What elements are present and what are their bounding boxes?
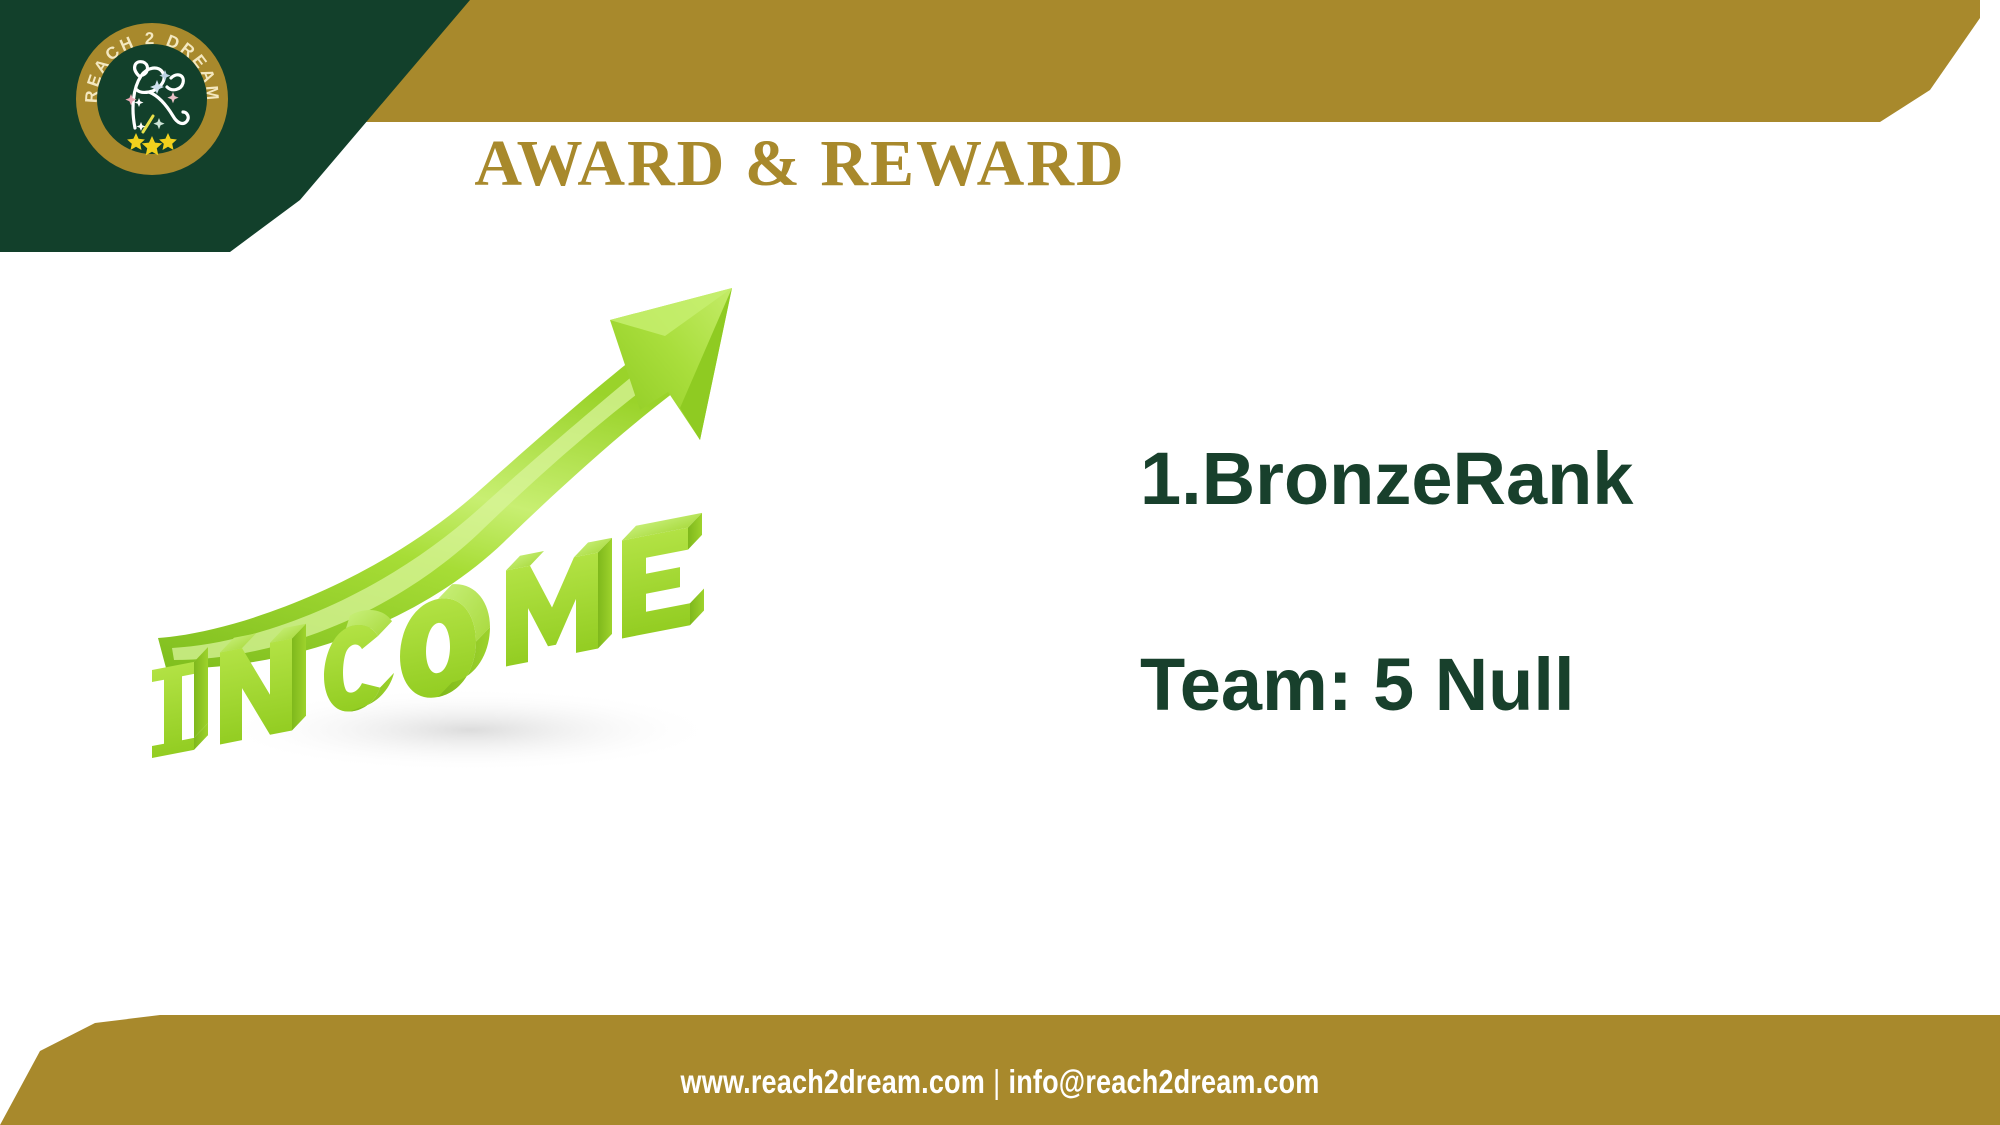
footer-email[interactable]: info@reach2dream.com bbox=[1009, 1063, 1320, 1100]
income-growth-graphic bbox=[120, 280, 820, 800]
team-label: Team: 5 Null bbox=[1140, 646, 1900, 724]
footer-separator: | bbox=[985, 1063, 1009, 1101]
rank-label: 1.BronzeRank bbox=[1140, 440, 1900, 518]
slide-canvas: REACH 2 DREAM bbox=[0, 0, 2000, 1125]
award-details: 1.BronzeRank Team: 5 Null bbox=[1140, 440, 1900, 723]
footer-website[interactable]: www.reach2dream.com bbox=[681, 1063, 985, 1100]
page-title: AWARD & REWARD bbox=[0, 126, 1600, 202]
footer-contact: www.reach2dream.com|info@reach2dream.com bbox=[180, 1063, 1820, 1101]
